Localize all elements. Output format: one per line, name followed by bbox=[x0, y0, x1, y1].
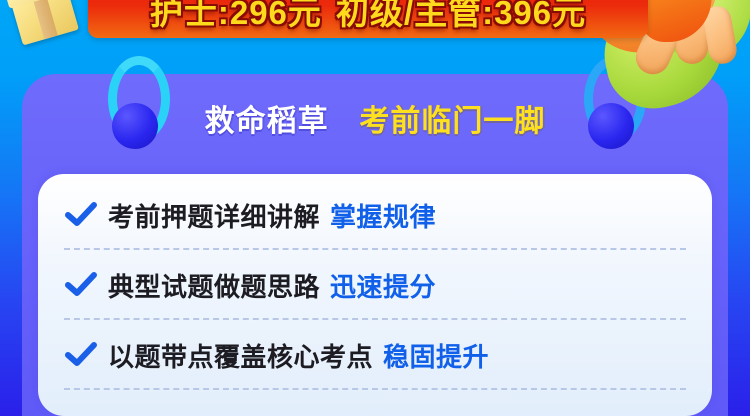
list-item[interactable]: 典型试题做题思路迅速提分 bbox=[38, 250, 712, 320]
list-item-text-wrap: 考前押题详细讲解掌握规律 bbox=[108, 197, 436, 234]
price-text-nurse: 护士:296元 bbox=[150, 0, 322, 34]
page-title-secondary: 考前临门一脚 bbox=[359, 105, 545, 138]
check-icon bbox=[64, 198, 98, 232]
list-item-label: 以题带点覆盖核心考点 bbox=[108, 342, 373, 372]
list-item-highlight: 稳固提升 bbox=[383, 342, 489, 372]
price-banner-text: 护士:296元 初级/主管:396元 bbox=[88, 0, 648, 38]
promo-banner-page: 护士:296元 初级/主管:396元 救命稻草 考前临门一脚 bbox=[0, 0, 750, 416]
page-title: 救命稻草 考前临门一脚 bbox=[0, 96, 750, 140]
check-icon bbox=[64, 338, 98, 372]
check-icon bbox=[64, 268, 98, 302]
price-banner: 护士:296元 初级/主管:396元 bbox=[88, 0, 648, 38]
list-divider bbox=[64, 388, 686, 390]
feature-list-card: 考前押题详细讲解掌握规律 典型试题做题思路迅速提分 bbox=[38, 174, 712, 416]
list-item-label: 典型试题做题思路 bbox=[108, 272, 320, 302]
feature-list: 考前押题详细讲解掌握规律 典型试题做题思路迅速提分 bbox=[38, 174, 712, 416]
list-item-highlight: 迅速提分 bbox=[330, 272, 436, 302]
list-item-highlight: 掌握规律 bbox=[330, 202, 436, 232]
price-text-junior: 初级/主管:396元 bbox=[336, 0, 586, 34]
list-item-text-wrap: 以题带点覆盖核心考点稳固提升 bbox=[108, 337, 489, 374]
page-title-primary: 救命稻草 bbox=[205, 105, 329, 138]
list-item[interactable]: 考前押题详细讲解掌握规律 bbox=[38, 180, 712, 250]
list-item-label: 考前押题详细讲解 bbox=[108, 202, 320, 232]
list-item-text-wrap: 典型试题做题思路迅速提分 bbox=[108, 267, 436, 304]
list-item[interactable]: 以题带点覆盖核心考点稳固提升 bbox=[38, 320, 712, 390]
